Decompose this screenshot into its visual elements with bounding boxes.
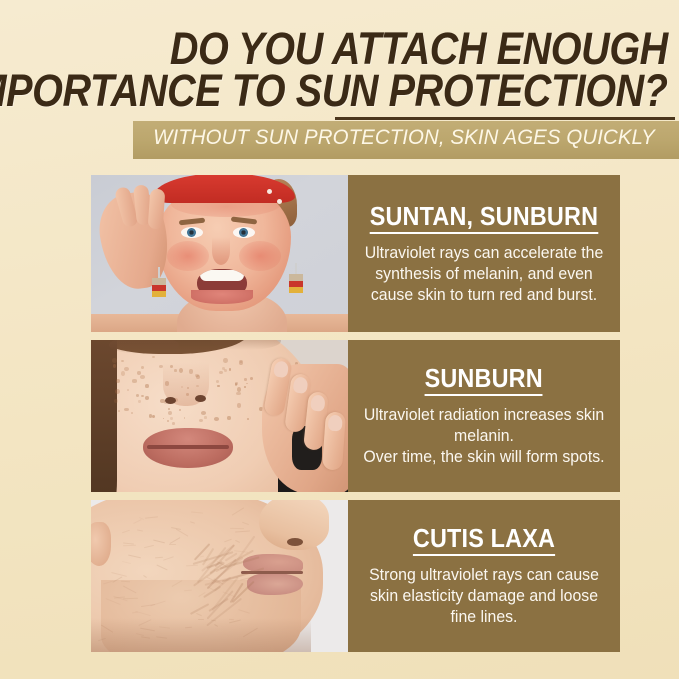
card-1-title: SUNTAN, SUNBURN: [370, 202, 598, 234]
card-2-title: SUNBURN: [425, 364, 543, 396]
nostril-shape: [195, 395, 206, 402]
headline-underline-rule: [335, 117, 675, 120]
card-3-photo: [91, 500, 348, 652]
lower-lip-shape: [191, 290, 253, 304]
red-headband-shape: [153, 175, 295, 203]
jaw-shadow-shape: [91, 618, 311, 652]
nose-shape: [212, 237, 230, 265]
earring-left-shape: [152, 267, 166, 297]
fingernail-shape: [292, 376, 308, 394]
card-3-text-panel: CUTIS LAXA Strong ultraviolet rays can c…: [348, 500, 620, 652]
lip-line-shape: [147, 445, 229, 449]
poster-root: DO YOU ATTACH ENOUGH IMPORTANCE TO SUN P…: [0, 0, 679, 679]
fingernail-shape: [310, 394, 326, 411]
card-2-text-panel: SUNBURN Ultraviolet radiation increases …: [348, 340, 620, 492]
fingernail-shape: [273, 360, 290, 378]
card-2-photo: [91, 340, 348, 492]
card-3-body: Strong ultraviolet rays can cause skin e…: [353, 565, 614, 628]
eye-right-shape: [233, 227, 255, 238]
earring-right-shape: [289, 263, 303, 293]
finger-shape: [322, 411, 346, 470]
fingernail-shape: [328, 415, 343, 432]
eye-left-shape: [181, 227, 203, 238]
headline-block: DO YOU ATTACH ENOUGH IMPORTANCE TO SUN P…: [0, 26, 679, 126]
nostril-shape: [165, 397, 176, 404]
card-2-body: Ultraviolet radiation increases skin mel…: [353, 405, 614, 468]
card-3-title: CUTIS LAXA: [413, 524, 555, 556]
subtitle-text: WITHOUT SUN PROTECTION, SKIN AGES QUICKL…: [147, 125, 662, 150]
sunburn-cheek-right-shape: [239, 241, 281, 271]
finger-shape: [148, 189, 166, 230]
card-1-photo: [91, 175, 348, 332]
headband-dot-shape: [267, 189, 272, 194]
card-1-body: Ultraviolet rays can accelerate the synt…: [353, 243, 614, 306]
headline-line-2: IMPORTANCE TO SUN PROTECTION?: [0, 68, 668, 114]
headband-dot-shape: [277, 199, 282, 204]
card-1-text-panel: SUNTAN, SUNBURN Ultraviolet rays can acc…: [348, 175, 620, 332]
sunburn-cheek-left-shape: [167, 241, 209, 271]
